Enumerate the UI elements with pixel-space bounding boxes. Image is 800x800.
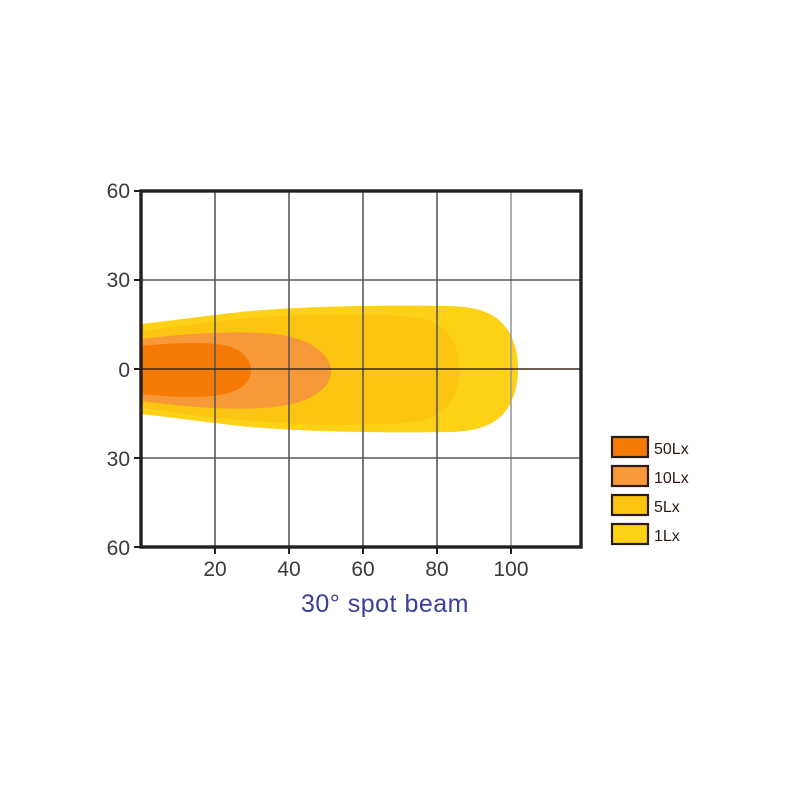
legend-label-10lx: 10Lx	[654, 470, 689, 487]
legend-swatch-10lx	[612, 466, 648, 486]
xtick-label-60: 60	[351, 558, 374, 581]
ytick-label-30-top: 30	[107, 269, 130, 292]
xtick-label-80: 80	[425, 558, 448, 581]
ytick-label-60-bottom: 60	[107, 537, 130, 560]
beam-diagram-svg: 60 30 0 30 60 20 40 60 80 100 30° spot b…	[0, 0, 800, 800]
ytick-label-0: 0	[118, 359, 130, 382]
xtick-label-40: 40	[277, 558, 300, 581]
ytick-label-60-top: 60	[107, 180, 130, 203]
beam-pattern-figure: 60 30 0 30 60 20 40 60 80 100 30° spot b…	[0, 0, 800, 800]
legend-label-50lx: 50Lx	[654, 441, 689, 458]
isolux-region-50lx	[141, 343, 251, 397]
xtick-label-100: 100	[493, 558, 528, 581]
legend-label-1lx: 1Lx	[654, 528, 680, 545]
legend-swatch-5lx	[612, 495, 648, 515]
legend-item-5lx: 5Lx	[612, 495, 680, 516]
page-title: 30° spot beam	[301, 590, 469, 618]
legend-swatch-1lx	[612, 524, 648, 544]
ytick-label-30-bottom: 30	[107, 448, 130, 471]
xtick-label-20: 20	[203, 558, 226, 581]
legend-item-1lx: 1Lx	[612, 524, 680, 545]
legend-label-5lx: 5Lx	[654, 499, 680, 516]
legend-swatch-50lx	[612, 437, 648, 457]
